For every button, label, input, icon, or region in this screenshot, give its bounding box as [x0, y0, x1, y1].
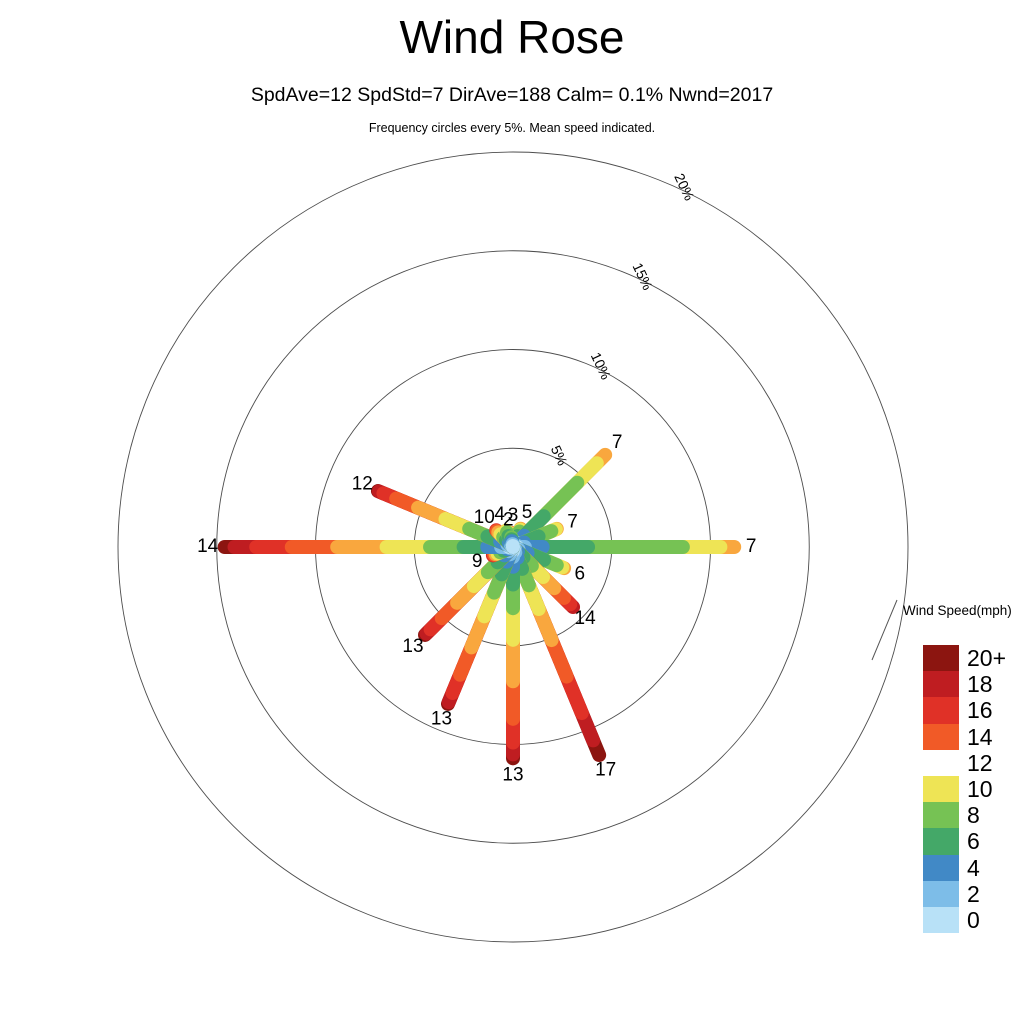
legend-row: 6 [923, 828, 959, 854]
petal-label: 6 [575, 564, 586, 585]
legend-label: 16 [967, 697, 993, 723]
petal-label: 13 [502, 764, 523, 785]
legend-title: Wind Speed(mph) [903, 603, 1012, 618]
legend-label: 6 [967, 828, 980, 854]
petal-mean-speed-labels: 3577761417131313914121042 [197, 432, 756, 786]
petal-label: 13 [431, 709, 452, 730]
legend-label: 2 [967, 881, 980, 907]
petal-label: 9 [472, 551, 483, 572]
legend: 20+181614121086420 [923, 645, 959, 933]
petal-label: 17 [595, 760, 616, 781]
legend-row: 8 [923, 802, 959, 828]
legend-label: 4 [967, 855, 980, 881]
legend-label: 8 [967, 802, 980, 828]
wind-rose-page: Wind Rose SpdAve=12 SpdStd=7 DirAve=188 … [0, 0, 1024, 1024]
petal-label: 5 [522, 502, 533, 523]
petal-label: 7 [612, 432, 623, 453]
petal-label: 14 [197, 536, 219, 557]
legend-swatch [923, 855, 959, 881]
legend-label: 12 [967, 750, 993, 776]
legend-label: 14 [967, 724, 993, 750]
legend-row: 14 [923, 724, 959, 750]
legend-swatch [923, 776, 959, 802]
legend-row: 4 [923, 855, 959, 881]
legend-label: 18 [967, 671, 993, 697]
petal-label: 7 [746, 536, 757, 557]
petal-label: 10 [474, 507, 495, 528]
legend-swatch [923, 802, 959, 828]
legend-row: 10 [923, 776, 959, 802]
legend-swatch [923, 750, 959, 776]
petal-label: 12 [352, 474, 373, 495]
legend-swatch [923, 697, 959, 723]
legend-swatch [923, 881, 959, 907]
ring-percent-labels: 5%10%15%20% [548, 171, 698, 468]
legend-swatch [923, 828, 959, 854]
legend-row: 18 [923, 671, 959, 697]
legend-row: 20+ [923, 645, 959, 671]
legend-row: 0 [923, 907, 959, 933]
petal-label: 7 [567, 511, 578, 532]
legend-label: 20+ [967, 645, 1006, 671]
legend-swatch [923, 907, 959, 933]
petal-label: 2 [503, 510, 514, 531]
legend-row: 12 [923, 750, 959, 776]
direction-petals [225, 455, 735, 758]
legend-label: 0 [967, 907, 980, 933]
legend-row: 2 [923, 881, 959, 907]
wind-rose-plot: 5%10%15%20% 3577761417131313914121042 [0, 0, 1024, 1024]
legend-leader-line [872, 600, 897, 660]
legend-label: 10 [967, 776, 993, 802]
petal-label: 13 [402, 636, 423, 657]
legend-swatch [923, 671, 959, 697]
legend-swatch [923, 724, 959, 750]
legend-row: 16 [923, 697, 959, 723]
legend-swatch [923, 645, 959, 671]
petal-label: 14 [575, 608, 597, 629]
